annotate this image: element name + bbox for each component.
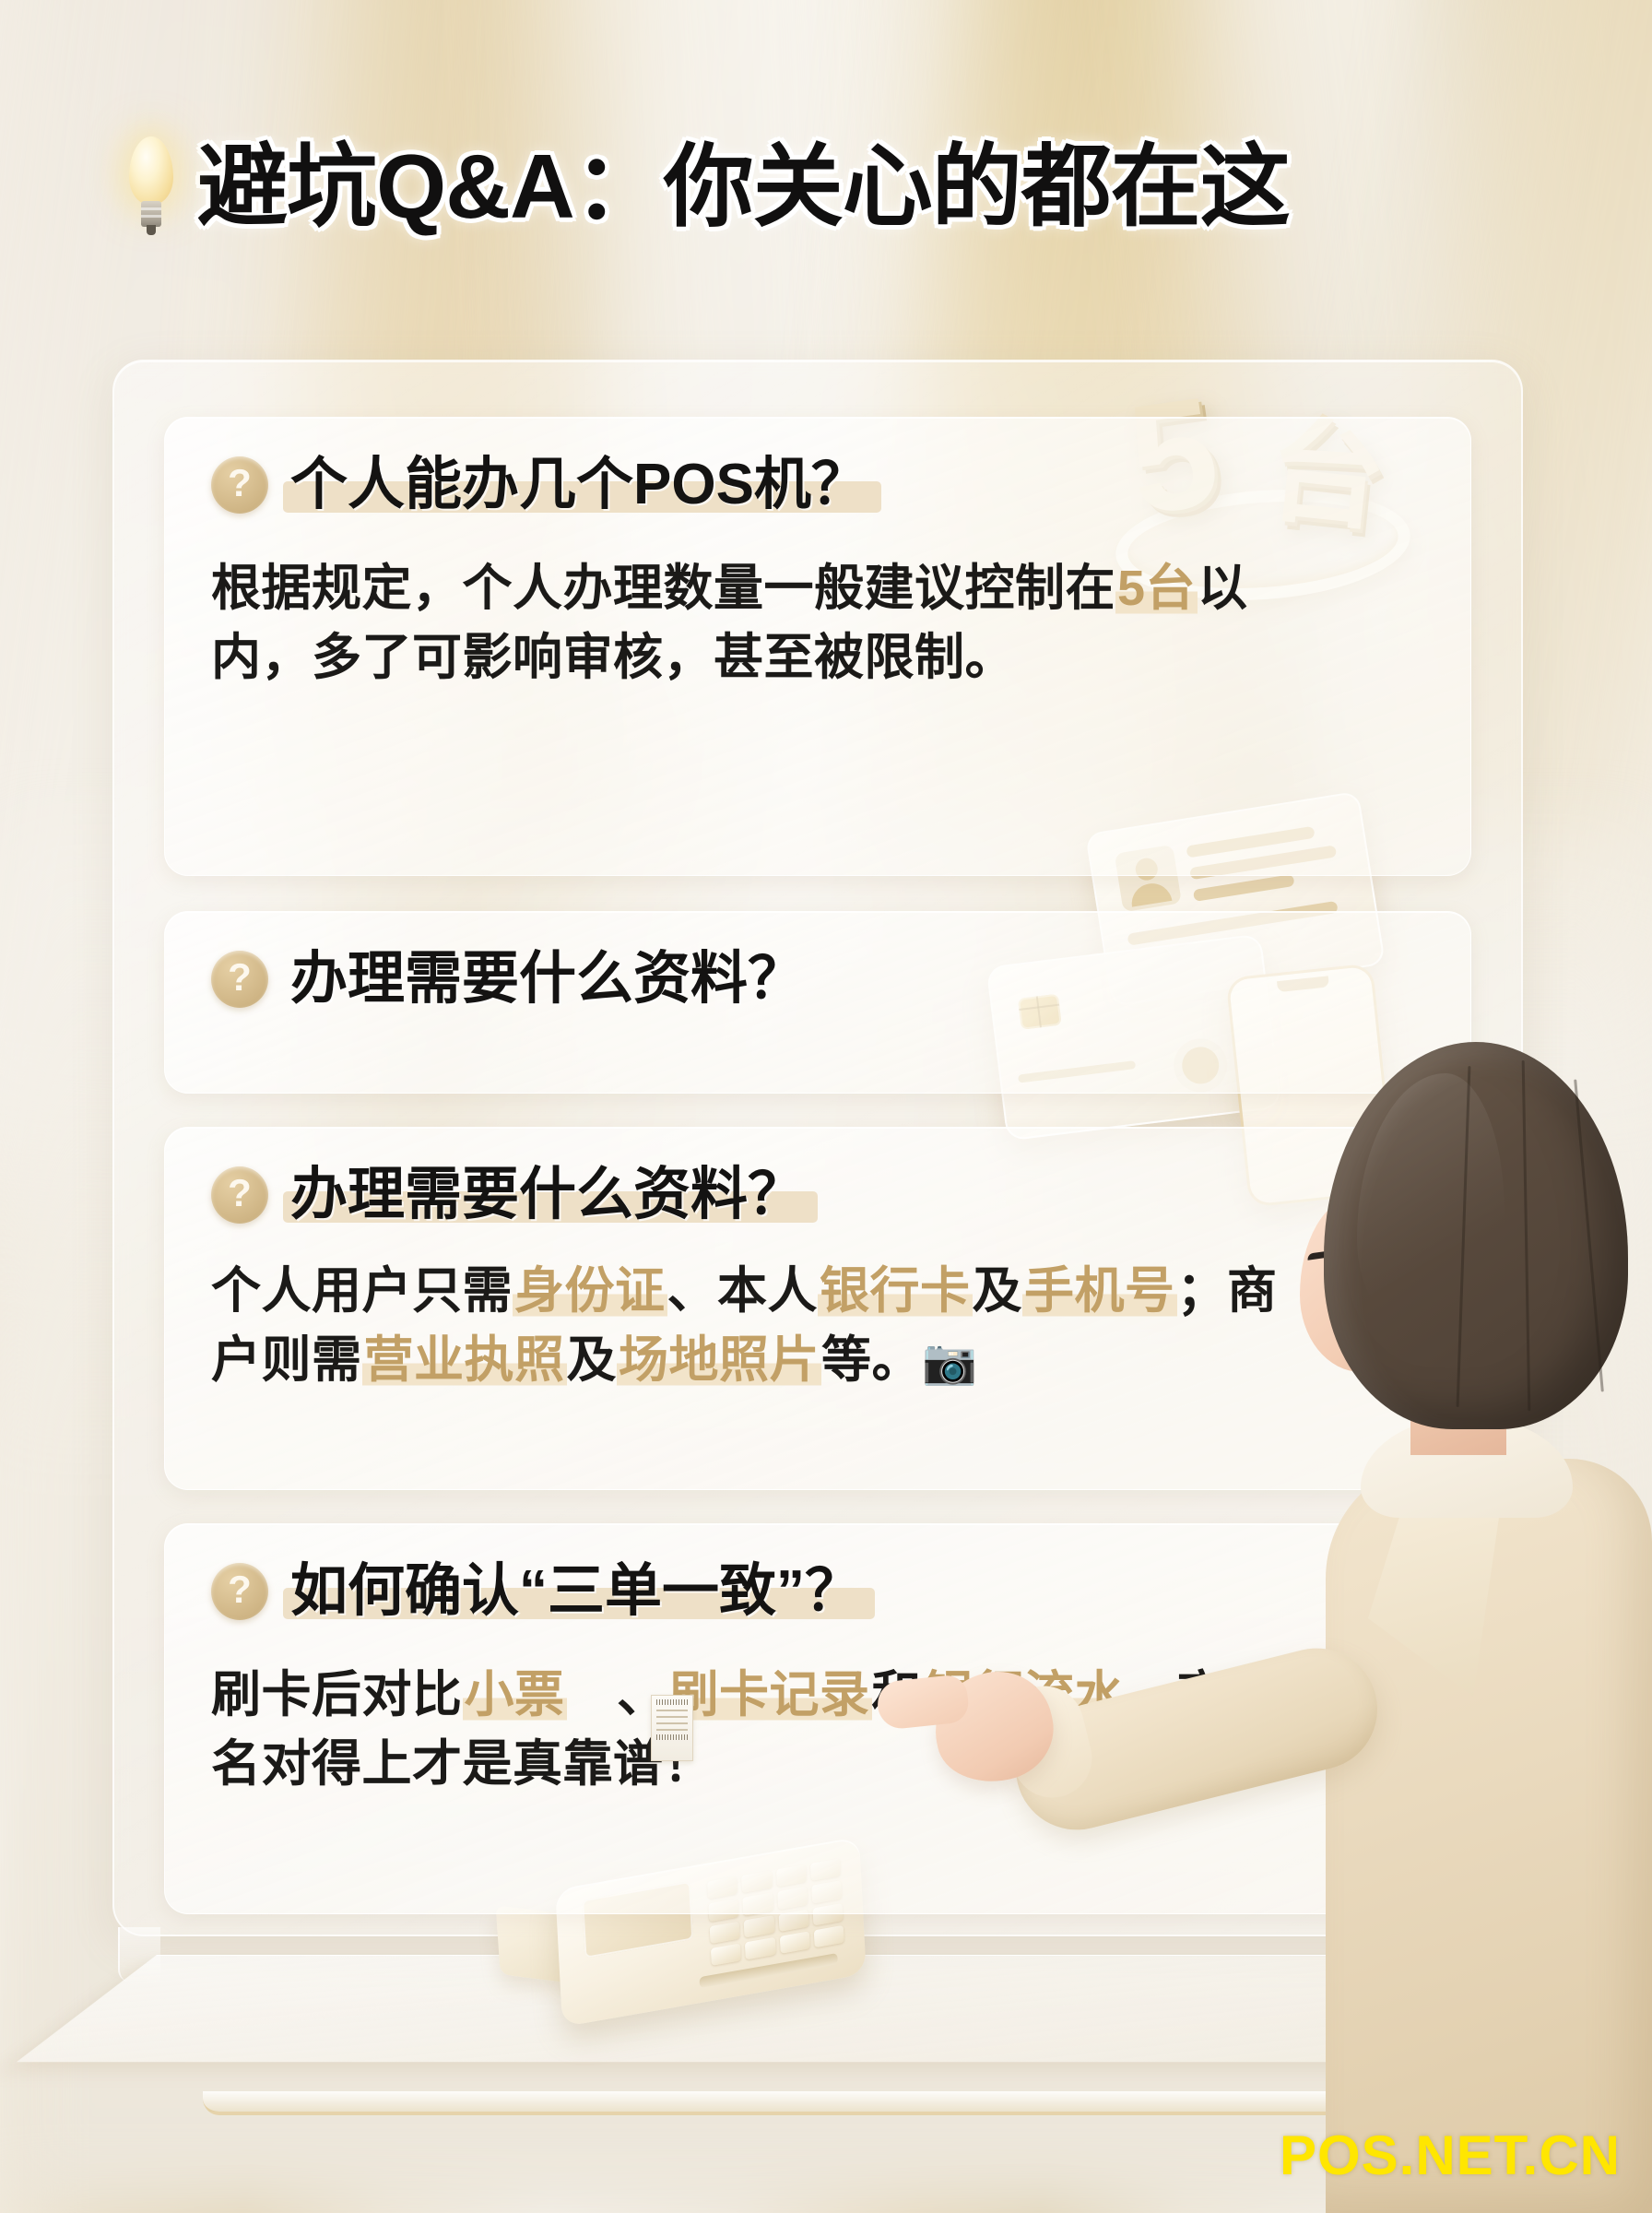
highlighted-term: 小票 <box>463 1667 567 1722</box>
qa-card-header: ? 如何确认“三单一致”？ <box>211 1561 862 1621</box>
answer-text-run: 📷 <box>922 1338 977 1387</box>
highlighted-term: 银行卡 <box>818 1263 973 1319</box>
page-title-text: 避坑Q&A：你关心的都在这 <box>197 141 1290 231</box>
highlighted-term: 刷卡记录 <box>667 1667 872 1722</box>
page-title: 避坑Q&A：你关心的都在这 <box>122 136 1290 236</box>
answer-text-run: 、 <box>567 1667 667 1722</box>
answer-text-run: 及 <box>567 1332 618 1388</box>
answer-text-run: 根据规定，个人办理数量一般建议控制在 <box>211 561 1115 616</box>
answer-text-run: 个人用户只需 <box>211 1263 513 1319</box>
question-mark-icon: ? <box>211 1563 268 1620</box>
answer-text-run: 及 <box>973 1263 1023 1319</box>
answer-text-run: 刷卡后对比 <box>211 1667 463 1722</box>
glass-table <box>111 1955 1475 2176</box>
qa-question-text: 办理需要什么资料？ <box>290 1165 805 1225</box>
qa-card-header: ? 个人能办几个POS机？ <box>211 455 868 515</box>
question-mark-icon: ? <box>211 951 268 1008</box>
answer-text-run: 等。 <box>821 1332 922 1388</box>
highlighted-term: 身份证 <box>513 1263 667 1319</box>
answer-text-run: 、本人 <box>667 1263 819 1319</box>
qa-card-header: ? 办理需要什么资料？ <box>211 1165 805 1225</box>
poster-canvas: 避坑Q&A：你关心的都在这 5 台 ? 个人能办几个POS机？ 根据规定，个人办… <box>0 0 1652 2213</box>
qa-question-text: 个人能办几个POS机？ <box>290 455 868 515</box>
highlighted-term: 5台 <box>1115 561 1198 616</box>
highlighted-term: 营业执照 <box>362 1332 567 1388</box>
qa-question-text: 办理需要什么资料？ <box>290 949 805 1009</box>
qa-answer-text: 个人用户只需身份证、本人银行卡及手机号；商户则需营业执照及场地照片等。📷 <box>211 1257 1299 1394</box>
lightbulb-icon <box>122 136 181 236</box>
avatar-character <box>1272 1042 1652 2213</box>
watermark: POS.NET.CN <box>1280 2124 1621 2187</box>
highlighted-term: 场地照片 <box>617 1332 821 1388</box>
highlighted-term: 手机号 <box>1022 1263 1177 1319</box>
qa-question-text: 如何确认“三单一致”？ <box>290 1561 862 1621</box>
question-mark-icon: ? <box>211 1166 268 1224</box>
qa-card-header: ? 办理需要什么资料？ <box>211 949 805 1009</box>
qa-card: ? 个人能办几个POS机？ 根据规定，个人办理数量一般建议控制在5台以内，多了可… <box>164 417 1471 876</box>
qa-answer-text: 根据规定，个人办理数量一般建议控制在5台以内，多了可影响审核，甚至被限制。 <box>211 554 1299 692</box>
question-mark-icon: ? <box>211 456 268 514</box>
